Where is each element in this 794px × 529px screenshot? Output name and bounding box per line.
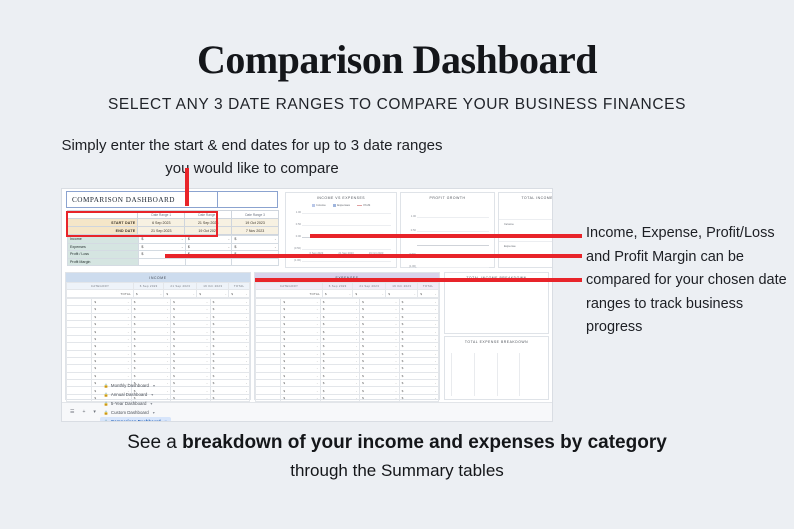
expenses-total-1: $- [323, 290, 353, 297]
category-cell[interactable] [256, 387, 281, 394]
chart-title-profit-growth: PROFIT GROWTH [401, 193, 494, 200]
amount-cell[interactable]: $- [92, 343, 131, 350]
amount-cell[interactable]: $- [131, 357, 170, 364]
amount-cell[interactable]: $- [131, 328, 170, 335]
category-cell[interactable] [256, 335, 281, 342]
ytick-ive-4: (1.00) [290, 259, 301, 262]
breakdown-col-2 [474, 353, 497, 396]
sheet-tab-label: Monthly Dashboard [111, 383, 149, 388]
legend-swatch-income [312, 204, 315, 207]
category-cell[interactable] [67, 306, 92, 313]
caption-bold: breakdown of your income and expenses by… [182, 432, 667, 453]
gridline-ive-1 [302, 225, 391, 226]
gridline-pg-zero [417, 245, 489, 246]
legend-item-profit: Profit [357, 203, 370, 207]
amount-cell[interactable]: $- [360, 365, 399, 372]
metric-profit-margin-1 [139, 258, 186, 266]
red-pointer-line-profit-margin [255, 278, 582, 282]
legend-swatch-profit [357, 205, 362, 206]
table-row[interactable]: $-$-$-$- [256, 357, 439, 364]
amount-cell[interactable]: $- [281, 357, 320, 364]
sheet-tab-comparison-dashboard[interactable]: 🔒Comparison Dashboard▾ [100, 417, 171, 422]
lock-icon: 🔒 [104, 392, 109, 397]
expenses-table-grid: CATEGORY 6 Sep 2023 21 Sep 2023 19 Oct 2… [255, 282, 439, 298]
amount-cell[interactable]: $- [210, 320, 249, 327]
amount-cell[interactable]: $- [320, 357, 359, 364]
red-pointer-line-income-expense [310, 234, 582, 238]
amount-cell[interactable]: $- [281, 298, 320, 305]
amount-cell[interactable]: $- [360, 350, 399, 357]
amount-cell[interactable]: $- [131, 372, 170, 379]
amount-cell[interactable]: $- [399, 380, 438, 387]
caption-line-1: See a breakdown of your income and expen… [0, 430, 794, 456]
table-row[interactable]: $-$-$-$- [67, 320, 250, 327]
table-row[interactable]: $-$-$-$- [67, 372, 250, 379]
amount-cell[interactable]: $- [92, 335, 131, 342]
ytick-ive-2: 0.00 [290, 235, 301, 238]
metric-row-profit-margin: Profit Margin [68, 258, 279, 266]
caption-line-2: through the Summary tables [0, 458, 794, 484]
amount-cell[interactable]: $- [399, 394, 438, 401]
amount-cell[interactable]: $- [210, 328, 249, 335]
sheet-tab-label: Custom Dashboard [111, 410, 149, 415]
chart-legend-income-vs-expenses: Income Expenses Profit [286, 203, 396, 207]
sheet-tab-label: Comparison Dashboard [111, 419, 161, 422]
gridline-ive-0 [302, 213, 391, 214]
table-row[interactable]: $-$-$-$- [256, 313, 439, 320]
expenses-total-label: TOTAL [256, 290, 323, 297]
amount-cell[interactable]: $- [320, 394, 359, 401]
add-sheet-icon[interactable]: + [78, 409, 89, 415]
amount-cell[interactable]: $- [281, 343, 320, 350]
sheet-tab-annual-dashboard[interactable]: 🔒Annual Dashboard▾ [100, 390, 171, 399]
expenses-col-total: TOTAL [418, 283, 439, 290]
metrics-table: Income $- $- $- Expenses $- $- $- Profit… [67, 235, 279, 266]
category-cell[interactable] [256, 394, 281, 401]
ytick-pg-3: (1.00) [405, 265, 416, 268]
blank-rows-grid: $-$-$-$-$-$-$-$-$-$-$-$-$-$-$-$-$-$-$-$-… [255, 298, 439, 410]
breakdown-col-1 [451, 353, 474, 396]
amount-cell[interactable]: $- [281, 365, 320, 372]
amount-cell[interactable]: $- [131, 350, 170, 357]
amount-cell[interactable]: $- [171, 372, 210, 379]
amount-cell[interactable]: $- [92, 328, 131, 335]
category-cell[interactable] [67, 365, 92, 372]
amount-cell[interactable]: $- [171, 298, 210, 305]
amount-cell[interactable]: $- [360, 357, 399, 364]
amount-cell[interactable]: $- [92, 320, 131, 327]
red-highlight-box-date-ranges [66, 211, 218, 237]
amount-cell[interactable]: $- [360, 306, 399, 313]
amount-cell[interactable]: $- [131, 306, 170, 313]
legend-label-expenses: Expenses [337, 203, 350, 207]
amount-cell[interactable]: $- [320, 380, 359, 387]
amount-cell[interactable]: $- [171, 320, 210, 327]
expenses-col-category: CATEGORY [256, 283, 323, 290]
table-row[interactable]: $-$-$-$- [256, 298, 439, 305]
metric-profit-margin-3 [232, 258, 279, 266]
sheet-tab-bar: ☰ + ▾ 🔒Monthly Dashboard▾🔒Annual Dashboa… [62, 402, 552, 421]
expenses-col-range-2: 21 Sep 2023 [353, 283, 386, 290]
amount-cell[interactable]: $- [281, 380, 320, 387]
income-col-range-3: 19 Oct 2023 [197, 283, 229, 290]
category-cell[interactable] [67, 328, 92, 335]
category-cell[interactable] [67, 343, 92, 350]
amount-cell[interactable]: $- [210, 380, 249, 387]
expenses-table-head: CATEGORY 6 Sep 2023 21 Sep 2023 19 Oct 2… [256, 283, 439, 290]
legend-label-income: Income [316, 203, 325, 207]
table-row[interactable]: $-$-$-$- [67, 343, 250, 350]
ytick-ive-0: 1.00 [290, 211, 301, 214]
gridline-pg-1 [417, 231, 489, 232]
metric-label-expenses: Expenses [68, 243, 139, 251]
expenses-col-range-1: 6 Sep 2023 [323, 283, 353, 290]
amount-cell[interactable]: $- [171, 350, 210, 357]
all-sheets-icon[interactable]: ☰ [66, 409, 78, 415]
metric-income-3: $- [232, 236, 279, 244]
breakdown-col-3 [497, 353, 520, 396]
category-cell[interactable] [256, 380, 281, 387]
expenses-total-3: $- [386, 290, 418, 297]
amount-cell[interactable]: $- [171, 335, 210, 342]
category-cell[interactable] [256, 357, 281, 364]
amount-cell[interactable]: $- [171, 394, 210, 401]
category-cell[interactable] [256, 328, 281, 335]
table-row[interactable]: $-$-$-$- [256, 387, 439, 394]
category-cell[interactable] [256, 350, 281, 357]
amount-cell[interactable]: $- [171, 357, 210, 364]
income-col-range-1: 6 Sep 2023 [134, 283, 164, 290]
table-row[interactable]: $-$-$-$- [256, 328, 439, 335]
income-total-sum: $- [229, 290, 250, 297]
amount-cell[interactable]: $- [210, 387, 249, 394]
category-cell[interactable] [67, 335, 92, 342]
amount-cell[interactable]: $- [399, 372, 438, 379]
caption-plain: See a [127, 432, 182, 453]
income-total-2: $- [164, 290, 197, 297]
sheet-tab-custom-dashboard[interactable]: 🔒Custom Dashboard▾ [100, 408, 171, 417]
red-pointer-line-vertical [185, 168, 189, 206]
amount-cell[interactable]: $- [281, 335, 320, 342]
expense-breakdown-columns [451, 353, 542, 396]
amount-cell[interactable]: $- [320, 313, 359, 320]
amount-cell[interactable]: $- [320, 387, 359, 394]
category-cell[interactable] [67, 357, 92, 364]
amount-cell[interactable]: $- [320, 306, 359, 313]
category-cell[interactable] [256, 298, 281, 305]
expenses-summary-table: EXPENSES CATEGORY 6 Sep 2023 21 Sep 2023… [254, 272, 440, 400]
expenses-table-body: TOTAL $- $- $- $- [256, 290, 439, 297]
sheet-tabs-list: 🔒Monthly Dashboard▾🔒Annual Dashboard▾🔒5-… [100, 381, 171, 422]
category-cell[interactable] [67, 298, 92, 305]
amount-cell[interactable]: $- [399, 335, 438, 342]
amount-cell[interactable]: $- [360, 394, 399, 401]
amount-cell[interactable]: $- [131, 320, 170, 327]
income-col-total: TOTAL [229, 283, 250, 290]
category-cell[interactable] [67, 380, 92, 387]
metric-label-profit-margin: Profit Margin [68, 258, 139, 266]
table-row[interactable]: $-$-$-$- [67, 313, 250, 320]
ytick-pg-1: 0.50 [405, 229, 416, 232]
amount-cell[interactable]: $- [360, 335, 399, 342]
amount-cell[interactable]: $- [399, 350, 438, 357]
annotation-top-text: Simply enter the start & end dates for u… [52, 134, 452, 180]
metric-profit-margin-2 [185, 258, 232, 266]
expenses-total-row: TOTAL $- $- $- $- [256, 290, 439, 297]
caption-block: See a breakdown of your income and expen… [0, 430, 794, 484]
expenses-col-range-3: 19 Oct 2023 [386, 283, 418, 290]
amount-cell[interactable]: $- [399, 328, 438, 335]
amount-cell[interactable]: $- [320, 350, 359, 357]
amount-cell[interactable]: $- [360, 387, 399, 394]
amount-cell[interactable]: $- [281, 372, 320, 379]
amount-cell[interactable]: $- [320, 320, 359, 327]
amount-cell[interactable]: $- [210, 357, 249, 364]
sheet-tab-monthly-dashboard[interactable]: 🔒Monthly Dashboard▾ [100, 381, 171, 390]
amount-cell[interactable]: $- [210, 365, 249, 372]
gridline-pg-0 [417, 217, 489, 218]
amount-cell[interactable]: $- [320, 328, 359, 335]
amount-cell[interactable]: $- [281, 328, 320, 335]
category-cell[interactable] [67, 387, 92, 394]
table-row[interactable]: $-$-$-$- [67, 357, 250, 364]
income-table-grid: CATEGORY 6 Sep 2023 21 Sep 2023 19 Oct 2… [66, 282, 250, 298]
table-row[interactable]: $-$-$-$- [256, 365, 439, 372]
amount-cell[interactable]: $- [320, 372, 359, 379]
amount-cell[interactable]: $- [210, 350, 249, 357]
table-row[interactable]: $-$-$-$- [256, 350, 439, 357]
amount-cell[interactable]: $- [131, 343, 170, 350]
amount-cell[interactable]: $- [171, 328, 210, 335]
income-total-1: $- [134, 290, 164, 297]
amount-cell[interactable]: $- [320, 298, 359, 305]
metric-expenses-1: $- [139, 243, 186, 251]
table-row[interactable]: $-$-$-$- [256, 394, 439, 401]
chevron-down-icon[interactable]: ▾ [151, 392, 153, 397]
amount-cell[interactable]: $- [210, 306, 249, 313]
chevron-down-icon[interactable]: ▾ [150, 401, 152, 406]
amount-cell[interactable]: $- [171, 313, 210, 320]
metric-row-expenses: Expenses $- $- $- [68, 243, 279, 251]
tie-row-expense: Expense [499, 241, 552, 248]
category-cell[interactable] [67, 320, 92, 327]
amount-cell[interactable]: $- [210, 298, 249, 305]
amount-cell[interactable]: $- [281, 313, 320, 320]
amount-cell[interactable]: $- [131, 365, 170, 372]
ytick-ive-1: 0.50 [290, 223, 301, 226]
income-total-3: $- [197, 290, 229, 297]
amount-cell[interactable]: $- [281, 394, 320, 401]
metric-expenses-2: $- [185, 243, 232, 251]
income-total-row: TOTAL $- $- $- $- [67, 290, 250, 297]
amount-cell[interactable]: $- [131, 335, 170, 342]
chart-total-expense-breakdown: TOTAL EXPENSE BREAKDOWN [444, 336, 549, 400]
chevron-down-icon[interactable]: ▾ [89, 409, 100, 415]
income-col-range-2: 21 Sep 2023 [164, 283, 197, 290]
amount-cell[interactable]: $- [399, 306, 438, 313]
amount-cell[interactable]: $- [171, 380, 210, 387]
amount-cell[interactable]: $- [320, 343, 359, 350]
amount-cell[interactable]: $- [281, 350, 320, 357]
amount-cell[interactable]: $- [399, 298, 438, 305]
end-date-value-3[interactable]: 7 Nov 2023 [232, 227, 279, 235]
gridline-ive-4 [302, 261, 391, 262]
amount-cell[interactable]: $- [360, 328, 399, 335]
ytick-pg-0: 1.00 [405, 215, 416, 218]
red-pointer-line-profit-loss [165, 254, 582, 258]
table-row[interactable]: $-$-$-$- [67, 335, 250, 342]
page-title: Comparison Dashboard [0, 36, 794, 83]
amount-cell[interactable]: $- [399, 357, 438, 364]
legend-item-expenses: Expenses [333, 203, 350, 207]
amount-cell[interactable]: $- [92, 298, 131, 305]
legend-item-income: Income [312, 203, 326, 207]
amount-cell[interactable]: $- [360, 343, 399, 350]
legend-label-profit: Profit [363, 203, 370, 207]
amount-cell[interactable]: $- [210, 343, 249, 350]
chevron-down-icon[interactable]: ▾ [153, 383, 155, 388]
category-cell[interactable] [256, 365, 281, 372]
table-row[interactable]: $-$-$-$- [67, 328, 250, 335]
table-row[interactable]: $-$-$-$- [67, 306, 250, 313]
amount-cell[interactable]: $- [399, 320, 438, 327]
category-cell[interactable] [67, 372, 92, 379]
metric-label-profit-loss: Profit / Loss [68, 251, 139, 259]
start-date-value-3[interactable]: 19 Oct 2023 [232, 219, 279, 227]
amount-cell[interactable]: $- [92, 372, 131, 379]
sheet-tab-label: 5-Year Dashboard [111, 401, 146, 406]
breakdown-col-4 [519, 353, 542, 396]
amount-cell[interactable]: $- [92, 313, 131, 320]
amount-cell[interactable]: $- [281, 387, 320, 394]
dashboard-title-cell: COMPARISON DASHBOARD [66, 191, 218, 208]
sheet-tab-label: Annual Dashboard [111, 392, 147, 397]
chart-title-income-vs-expenses: INCOME VS EXPENSES [286, 193, 396, 200]
category-cell[interactable] [256, 313, 281, 320]
amount-cell[interactable]: $- [399, 365, 438, 372]
category-cell[interactable] [67, 313, 92, 320]
amount-cell[interactable]: $- [210, 313, 249, 320]
amount-cell[interactable]: $- [320, 335, 359, 342]
amount-cell[interactable]: $- [92, 350, 131, 357]
amount-cell[interactable]: $- [131, 298, 170, 305]
date-range-header-3: Date Range 3 [232, 211, 279, 219]
table-row[interactable]: $-$-$-$- [67, 298, 250, 305]
amount-cell[interactable]: $- [360, 313, 399, 320]
expenses-blank-rows-container: $-$-$-$-$-$-$-$-$-$-$-$-$-$-$-$-$-$-$-$-… [255, 298, 439, 410]
income-table-banner: INCOME [66, 273, 250, 282]
table-row[interactable]: $-$-$-$- [256, 372, 439, 379]
lock-icon: 🔒 [104, 410, 109, 415]
amount-cell[interactable]: $- [360, 298, 399, 305]
amount-cell[interactable]: $- [92, 357, 131, 364]
amount-cell[interactable]: $- [281, 320, 320, 327]
chart-title-total-income-and-expense: TOTAL INCOME AND EXPENSE [499, 193, 552, 200]
amount-cell[interactable]: $- [92, 365, 131, 372]
ytick-ive-3: (0.50) [290, 247, 301, 250]
income-col-category: CATEGORY [67, 283, 134, 290]
amount-cell[interactable]: $- [399, 387, 438, 394]
chart-title-total-expense-breakdown: TOTAL EXPENSE BREAKDOWN [445, 337, 548, 344]
gridline-pg-3 [417, 267, 489, 268]
metric-expenses-3: $- [232, 243, 279, 251]
table-row[interactable]: $-$-$-$- [256, 343, 439, 350]
expenses-total-2: $- [353, 290, 386, 297]
chevron-down-icon[interactable]: ▾ [165, 419, 167, 422]
category-cell[interactable] [256, 343, 281, 350]
amount-cell[interactable]: $- [131, 313, 170, 320]
amount-cell[interactable]: $- [399, 313, 438, 320]
expenses-total-sum: $- [418, 290, 439, 297]
amount-cell[interactable]: $- [210, 394, 249, 401]
table-row[interactable]: $-$-$-$- [67, 365, 250, 372]
table-row[interactable]: $-$-$-$- [256, 335, 439, 342]
income-total-label: TOTAL [67, 290, 134, 297]
amount-cell[interactable]: $- [171, 365, 210, 372]
table-row[interactable]: $-$-$-$- [67, 350, 250, 357]
income-table-head: CATEGORY 6 Sep 2023 21 Sep 2023 19 Oct 2… [67, 283, 250, 290]
amount-cell[interactable]: $- [171, 387, 210, 394]
page-subtitle: SELECT ANY 3 DATE RANGES TO COMPARE YOUR… [0, 96, 794, 114]
amount-cell[interactable]: $- [360, 372, 399, 379]
legend-swatch-expenses [333, 204, 336, 207]
tie-row-income: Income [499, 219, 552, 226]
amount-cell[interactable]: $- [360, 380, 399, 387]
gridline-ive-3 [302, 249, 391, 250]
lock-icon: 🔒 [104, 401, 109, 406]
amount-cell[interactable]: $- [171, 343, 210, 350]
table-row[interactable]: $-$-$-$- [256, 306, 439, 313]
table-row[interactable]: $-$-$-$- [256, 380, 439, 387]
annotation-right-text: Income, Expense, Profit/Loss and Profit … [586, 222, 794, 340]
amount-cell[interactable]: $- [171, 306, 210, 313]
category-cell[interactable] [256, 306, 281, 313]
amount-cell[interactable]: $- [320, 365, 359, 372]
category-cell[interactable] [67, 394, 92, 401]
amount-cell[interactable]: $- [281, 306, 320, 313]
dashboard-title-cell-extension [218, 191, 278, 208]
amount-cell[interactable]: $- [92, 306, 131, 313]
amount-cell[interactable]: $- [399, 343, 438, 350]
income-table-body: TOTAL $- $- $- $- [67, 290, 250, 297]
sheet-tab-5-year-dashboard[interactable]: 🔒5-Year Dashboard▾ [100, 399, 171, 408]
lock-icon: 🔒 [104, 383, 109, 388]
amount-cell[interactable]: $- [360, 320, 399, 327]
category-cell[interactable] [67, 350, 92, 357]
chevron-down-icon[interactable]: ▾ [153, 410, 155, 415]
amount-cell[interactable]: $- [210, 372, 249, 379]
lock-icon: 🔒 [104, 419, 109, 422]
category-cell[interactable] [256, 320, 281, 327]
table-row[interactable]: $-$-$-$- [256, 320, 439, 327]
amount-cell[interactable]: $- [210, 335, 249, 342]
category-cell[interactable] [256, 372, 281, 379]
